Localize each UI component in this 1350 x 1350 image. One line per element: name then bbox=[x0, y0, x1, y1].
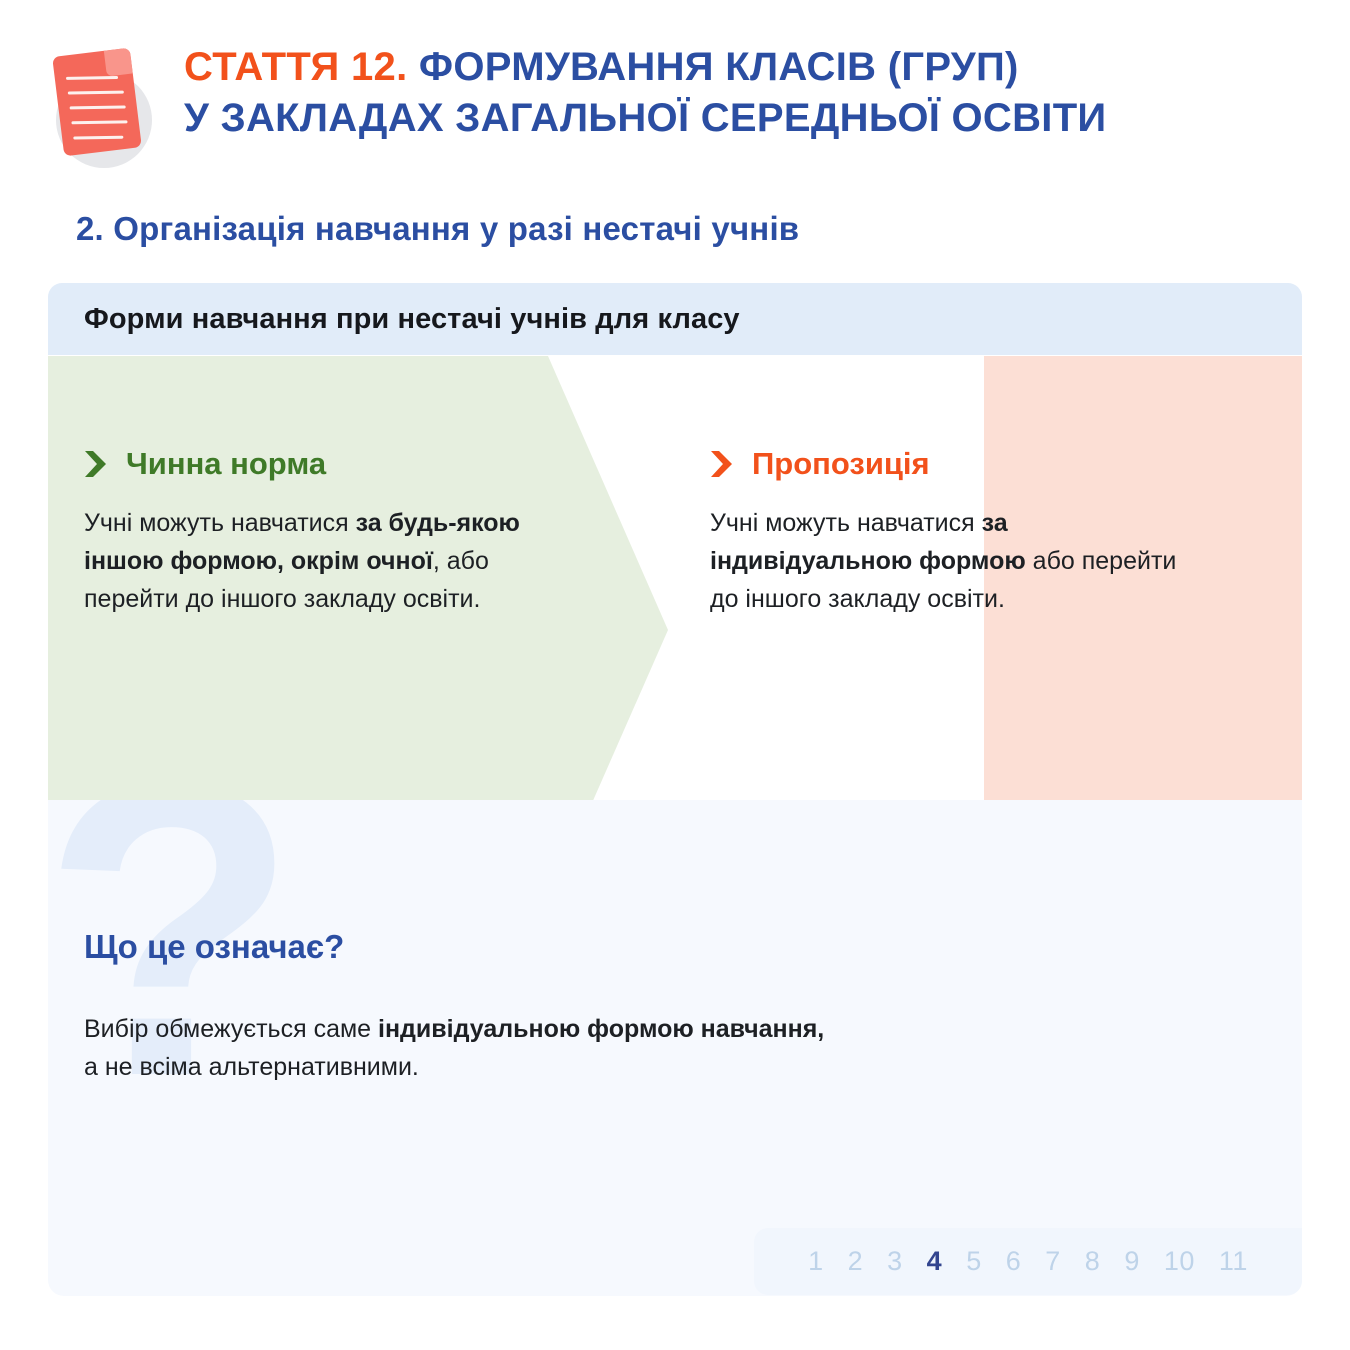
current-norm-body: Учні можуть навчатися за будь-якою іншою… bbox=[84, 504, 554, 618]
comparison-header-bar: Форми навчання при нестачі учнів для кла… bbox=[48, 283, 1302, 355]
current-norm-label: Чинна норма bbox=[126, 446, 326, 482]
explanation-body: Вибір обмежується саме індивідуальною фо… bbox=[84, 1010, 1302, 1086]
page-number-1[interactable]: 1 bbox=[808, 1246, 824, 1277]
page-title-line-2: У ЗАКЛАДАХ ЗАГАЛЬНОЇ СЕРЕДНЬОЇ ОСВІТИ bbox=[184, 93, 1107, 144]
page-number-5[interactable]: 5 bbox=[966, 1246, 982, 1277]
title-line-1-rest: ФОРМУВАННЯ КЛАСІВ (ГРУП) bbox=[408, 45, 1019, 89]
page-title-line-1: СТАТТЯ 12. ФОРМУВАННЯ КЛАСІВ (ГРУП) bbox=[184, 42, 1107, 93]
explanation-card: ? Що це означає? Вибір обмежується саме … bbox=[48, 800, 1302, 1296]
document-icon bbox=[48, 46, 166, 171]
current-norm-block: Чинна норма Учні можуть навчатися за буд… bbox=[84, 446, 554, 618]
page-number-4[interactable]: 4 bbox=[927, 1246, 943, 1277]
proposal-body: Учні можуть навчатися за індивідуальною … bbox=[710, 504, 1210, 618]
icon-document-sheet bbox=[52, 48, 142, 157]
chevron-right-icon bbox=[710, 449, 736, 479]
page-number-8[interactable]: 8 bbox=[1085, 1246, 1101, 1277]
explanation-inner: Що це означає? Вибір обмежується саме ін… bbox=[48, 800, 1302, 1086]
page-number-7[interactable]: 7 bbox=[1045, 1246, 1061, 1277]
icon-folded-corner bbox=[104, 48, 133, 77]
proposal-title: Пропозиція bbox=[710, 446, 1210, 482]
comparison-header-label: Форми навчання при нестачі учнів для кла… bbox=[84, 303, 740, 336]
section-subtitle: 2. Організація навчання у разі нестачі у… bbox=[76, 210, 799, 248]
page-number-3[interactable]: 3 bbox=[887, 1246, 903, 1277]
page-header: СТАТТЯ 12. ФОРМУВАННЯ КЛАСІВ (ГРУП) У ЗА… bbox=[48, 38, 1302, 178]
page-title: СТАТТЯ 12. ФОРМУВАННЯ КЛАСІВ (ГРУП) У ЗА… bbox=[184, 38, 1107, 144]
proposal-block: Пропозиція Учні можуть навчатися за інди… bbox=[710, 446, 1210, 618]
explanation-body-pre: Вибір обмежується саме bbox=[84, 1015, 378, 1043]
page-number-6[interactable]: 6 bbox=[1006, 1246, 1022, 1277]
page-number-9[interactable]: 9 bbox=[1124, 1246, 1140, 1277]
proposal-body-pre: Учні можуть навчатися bbox=[710, 509, 982, 537]
explanation-title: Що це означає? bbox=[84, 928, 1302, 966]
article-number: СТАТТЯ 12. bbox=[184, 45, 408, 89]
infographic-page: СТАТТЯ 12. ФОРМУВАННЯ КЛАСІВ (ГРУП) У ЗА… bbox=[0, 0, 1350, 1350]
explanation-body-post: а не всіма альтернативними. bbox=[84, 1053, 419, 1081]
chevron-right-icon bbox=[84, 449, 110, 479]
pagination[interactable]: 1 2 3 4 5 6 7 8 9 10 11 bbox=[754, 1228, 1302, 1295]
page-number-2[interactable]: 2 bbox=[848, 1246, 864, 1277]
current-norm-title: Чинна норма bbox=[84, 446, 554, 482]
explanation-body-bold: індивідуальною формою навчання, bbox=[378, 1015, 824, 1043]
proposal-label: Пропозиція bbox=[752, 446, 930, 482]
current-norm-body-pre: Учні можуть навчатися bbox=[84, 509, 356, 537]
page-number-10[interactable]: 10 bbox=[1164, 1246, 1195, 1277]
page-number-11[interactable]: 11 bbox=[1219, 1246, 1248, 1277]
